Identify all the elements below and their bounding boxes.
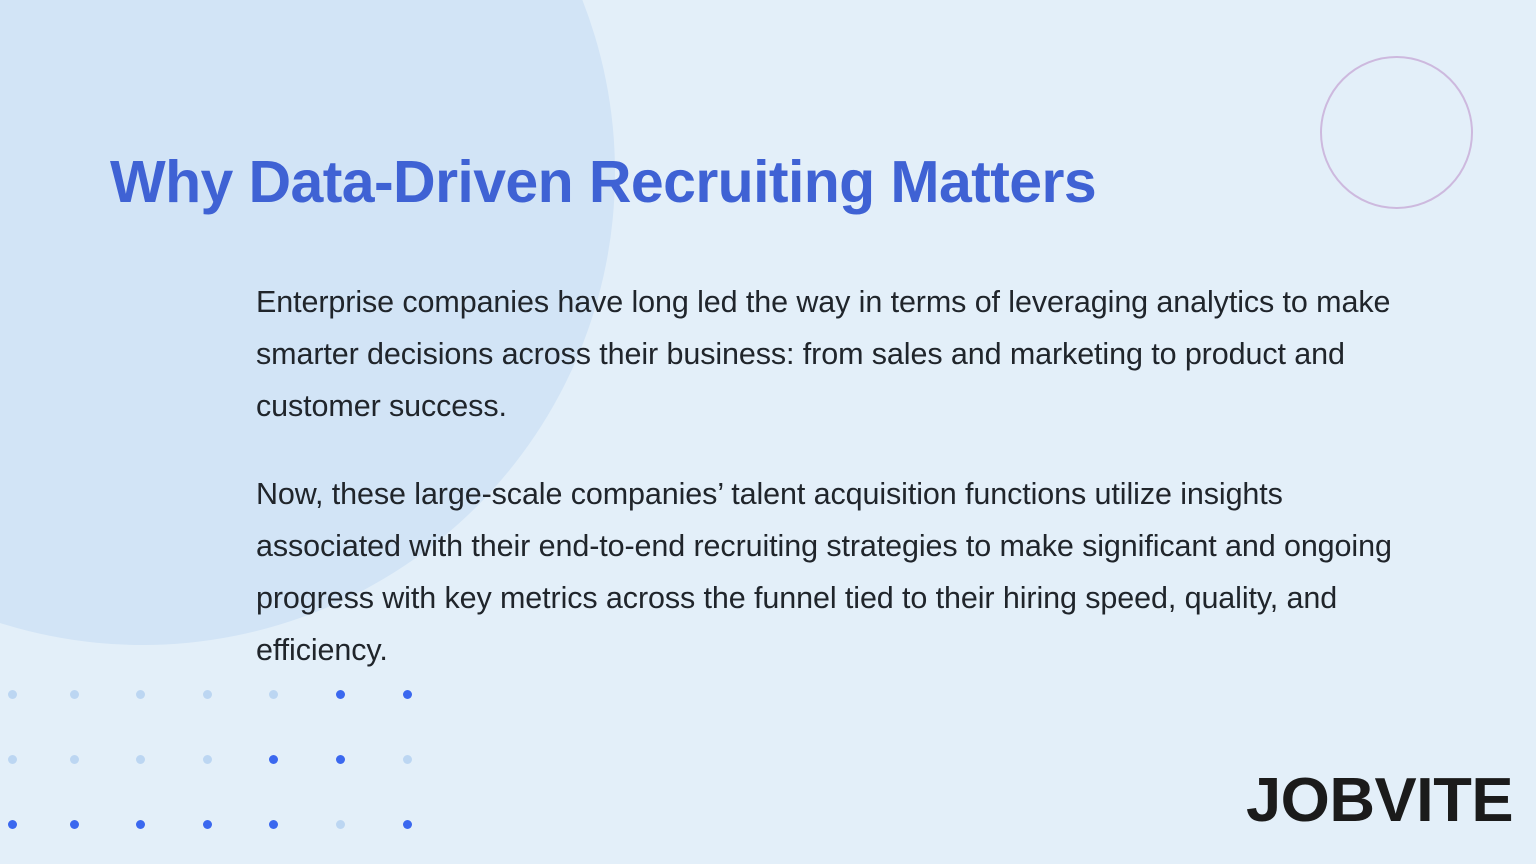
- body-paragraph-2: Now, these large-scale companies’ talent…: [256, 468, 1416, 676]
- page-title: Why Data-Driven Recruiting Matters: [110, 150, 1096, 215]
- body-paragraph-1: Enterprise companies have long led the w…: [256, 276, 1416, 432]
- body-copy: Enterprise companies have long led the w…: [256, 276, 1416, 676]
- jobvite-logo: JOBVITE: [1246, 770, 1513, 832]
- slide-content: Why Data-Driven Recruiting Matters Enter…: [0, 0, 1536, 864]
- slide-canvas: Why Data-Driven Recruiting Matters Enter…: [0, 0, 1536, 864]
